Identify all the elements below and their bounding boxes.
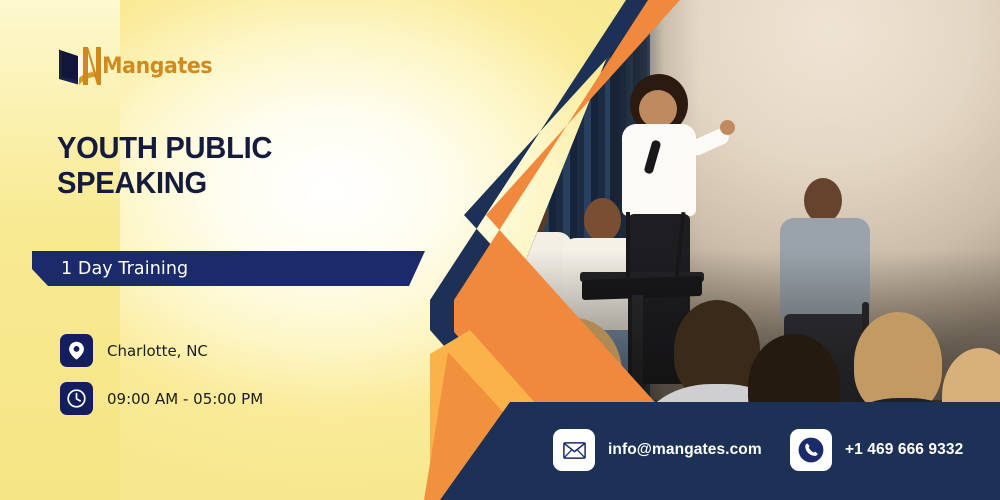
- map-pin-icon: [60, 334, 93, 367]
- location-row: Charlotte, NC: [60, 334, 208, 367]
- phone-label: +1 469 666 9332: [845, 441, 963, 459]
- email-label: info@mangates.com: [608, 441, 762, 459]
- open-book-icon: [57, 45, 101, 87]
- contact-items: info@mangates.com +1 469 666 9332: [0, 402, 1000, 500]
- contact-email[interactable]: info@mangates.com: [553, 429, 762, 471]
- duration-ribbon: 1 Day Training: [32, 251, 425, 286]
- contact-phone[interactable]: +1 469 666 9332: [790, 429, 963, 471]
- duration-label: 1 Day Training: [61, 259, 188, 279]
- mangates-logo[interactable]: Mangates: [57, 40, 247, 92]
- location-label: Charlotte, NC: [107, 342, 208, 360]
- event-banner: Mangates YOUTH PUBLIC SPEAKING 1 Day Tra…: [0, 0, 1000, 500]
- logo-wordmark: Mangates: [102, 54, 212, 79]
- envelope-icon: [553, 429, 595, 471]
- phone-icon: [790, 429, 832, 471]
- page-title: YOUTH PUBLIC SPEAKING: [57, 131, 414, 200]
